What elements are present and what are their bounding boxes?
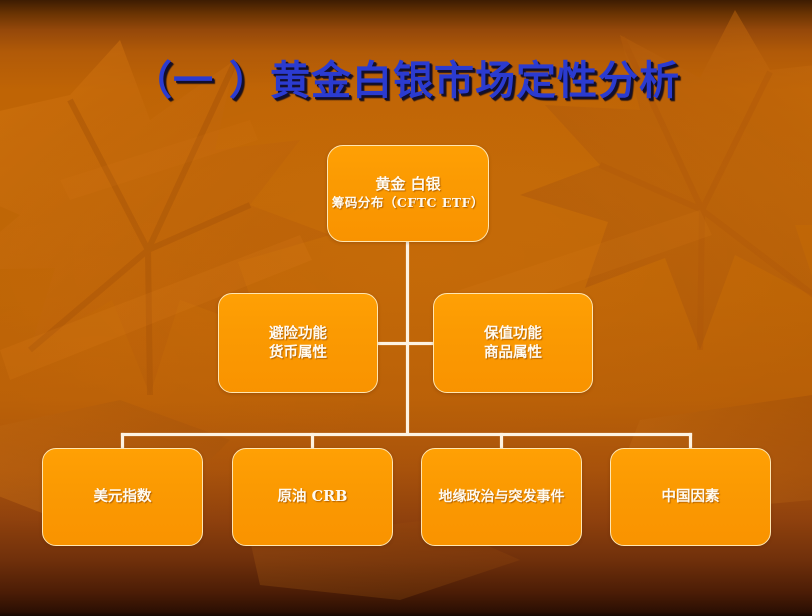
node-crude-oil-crb-label: 原油 CRB [278,487,348,506]
slide-title: （一 ）黄金白银市场定性分析 [0,48,812,106]
node-value-preservation-line1: 保值功能 [484,324,542,343]
node-dollar-index-label: 美元指数 [94,487,152,506]
node-hedge-function-line2: 货币属性 [269,343,327,362]
node-value-preservation[interactable]: 保值功能 商品属性 [433,293,593,393]
node-root-line2: 筹码分布（CFTC ETF） [332,195,484,212]
node-china-factor-label: 中国因素 [662,487,720,506]
node-dollar-index[interactable]: 美元指数 [42,448,203,546]
node-geopolitics-events[interactable]: 地缘政治与突发事件 [421,448,582,546]
node-value-preservation-line2: 商品属性 [484,343,542,362]
node-hedge-function-line1: 避险功能 [269,324,327,343]
node-crude-oil-crb[interactable]: 原油 CRB [232,448,393,546]
node-hedge-function[interactable]: 避险功能 货币属性 [218,293,378,393]
slide-canvas: （一 ）黄金白银市场定性分析 黄金 白银 筹码分布（CFTC ETF） 避险功能… [0,0,812,616]
node-root-line1: 黄金 白银 [375,175,440,195]
node-root[interactable]: 黄金 白银 筹码分布（CFTC ETF） [327,145,489,242]
node-china-factor[interactable]: 中国因素 [610,448,771,546]
node-geopolitics-events-label: 地缘政治与突发事件 [439,488,565,506]
